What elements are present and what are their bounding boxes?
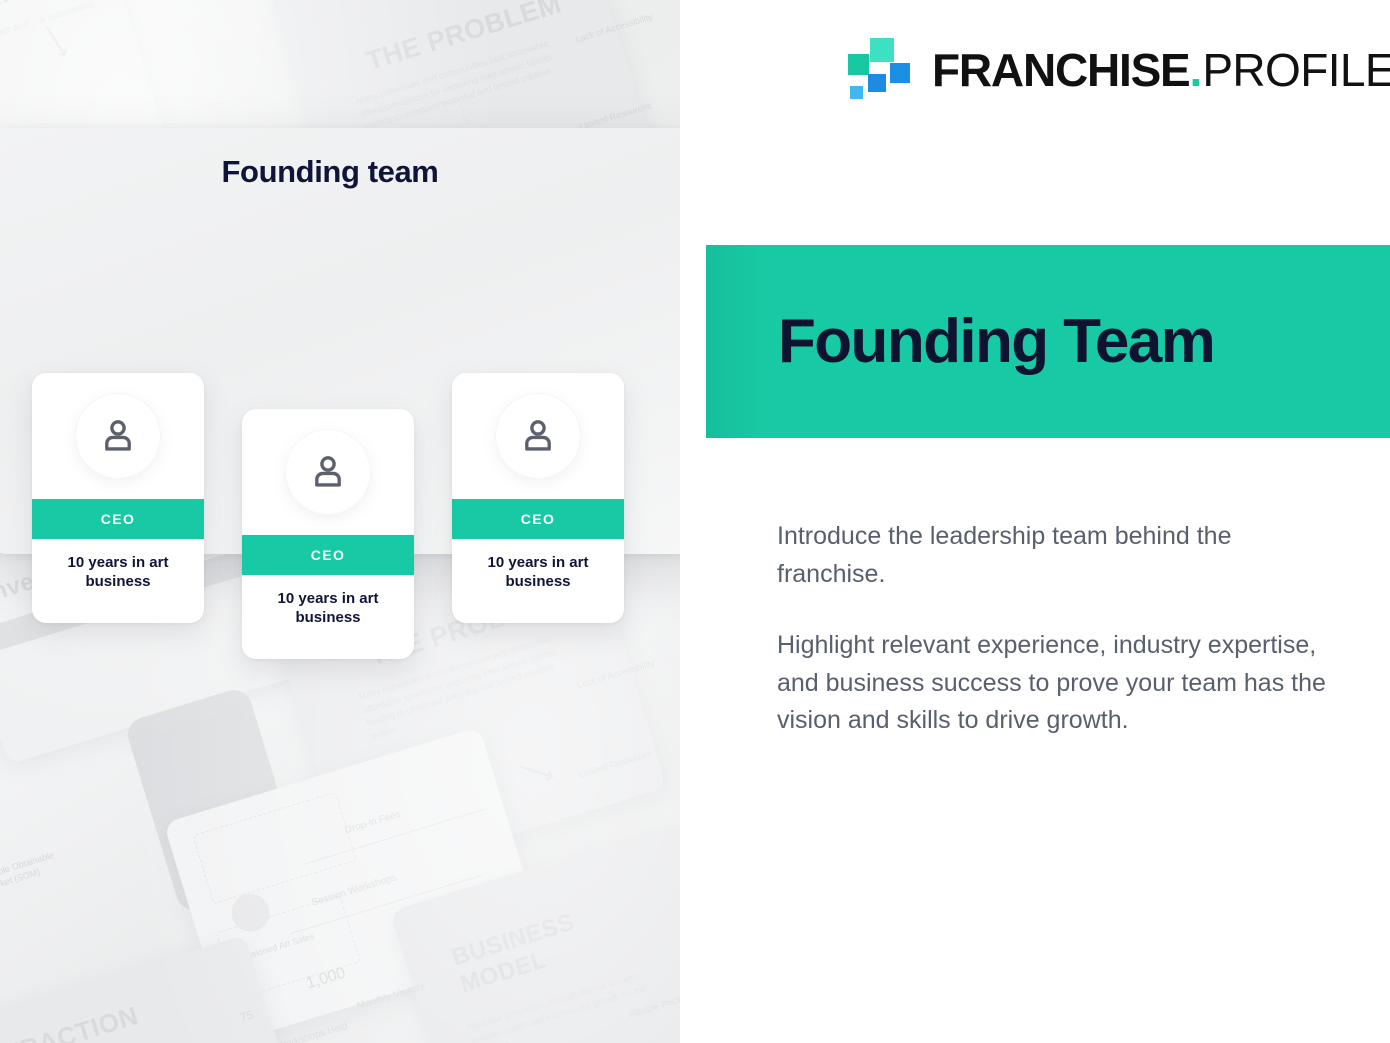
section-title-band: Founding Team — [706, 245, 1390, 438]
square-blue-light — [850, 86, 863, 99]
avatar-circle — [75, 393, 161, 479]
square-blue-small — [868, 74, 886, 92]
slide-preview-card[interactable]: Founding team CEO 10 years in art busine… — [0, 128, 706, 554]
section-description: Introduce the leadership team behind the… — [777, 518, 1337, 740]
slide-preview-heading: Founding team — [0, 154, 706, 190]
person-description: 10 years in art business — [452, 539, 624, 591]
person-description: 10 years in art business — [242, 575, 414, 627]
person-description: 10 years in art business — [32, 539, 204, 591]
backdrop-slide-title: TRACTION — [1, 1000, 142, 1043]
avatar — [32, 373, 204, 499]
backdrop-label-som: Serviceable Obtainable Market (SOM) — [0, 846, 67, 901]
brand-word-dot: . — [1190, 47, 1203, 93]
person-card[interactable]: CEO 10 years in art business — [32, 373, 204, 623]
avatar — [452, 373, 624, 499]
avatar-circle — [285, 429, 371, 515]
person-icon — [97, 415, 139, 457]
franchise-profiles-squares-logo — [848, 38, 910, 102]
slide-canvas: MARKET ...ces in urban and ...a substant… — [0, 0, 1390, 1043]
description-paragraph-2: Highlight relevant experience, industry … — [777, 627, 1337, 740]
backdrop-dashed-box — [192, 792, 356, 905]
brand-word-franchise: FRANCHISE — [932, 47, 1190, 93]
role-badge: CEO — [242, 535, 414, 575]
avatar-circle — [495, 393, 581, 479]
avatar — [242, 409, 414, 535]
content-panel: FRANCHISE.PROFILES Founding Team Introdu… — [680, 0, 1390, 1043]
role-badge: CEO — [32, 499, 204, 539]
square-teal-large — [870, 38, 894, 62]
brand-wordmark: FRANCHISE.PROFILES — [932, 47, 1390, 93]
description-paragraph-1: Introduce the leadership team behind the… — [777, 518, 1337, 593]
person-card[interactable]: CEO 10 years in art business — [452, 373, 624, 623]
brand-logo[interactable]: FRANCHISE.PROFILES — [848, 38, 1390, 102]
brand-word-profiles: PROFILES — [1202, 47, 1390, 93]
person-card[interactable]: CEO 10 years in art business — [242, 409, 414, 659]
square-blue-mid — [890, 63, 910, 83]
person-icon — [517, 415, 559, 457]
square-teal-dark — [848, 54, 869, 75]
role-badge: CEO — [452, 499, 624, 539]
page-title: Founding Team — [778, 306, 1214, 377]
person-icon — [307, 451, 349, 493]
